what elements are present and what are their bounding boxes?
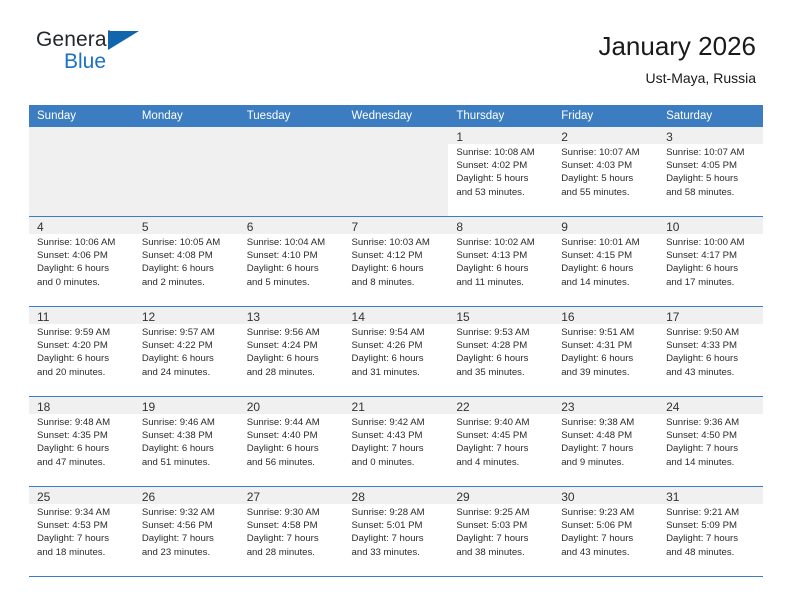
day-info-line: Sunset: 4:43 PM: [352, 429, 443, 442]
page-header: General Blue January 2026 Ust-Maya, Russ…: [0, 28, 792, 100]
day-info-line: Sunset: 4:17 PM: [666, 249, 757, 262]
day-sun-info: Sunrise: 9:25 AMSunset: 5:03 PMDaylight:…: [456, 506, 547, 559]
weekday-header-sunday: Sunday: [29, 105, 134, 127]
day-info-line: Sunrise: 9:46 AM: [142, 416, 233, 429]
day-info-line: Sunrise: 9:48 AM: [37, 416, 128, 429]
day-info-line: Sunset: 4:56 PM: [142, 519, 233, 532]
day-info-line: Sunrise: 9:28 AM: [352, 506, 443, 519]
day-cell-inner: 29Sunrise: 9:25 AMSunset: 5:03 PMDayligh…: [448, 487, 553, 576]
day-info-line: and 11 minutes.: [456, 276, 547, 289]
day-info-line: Daylight: 6 hours: [37, 262, 128, 275]
day-info-line: Sunset: 4:22 PM: [142, 339, 233, 352]
day-cell-inner: 16Sunrise: 9:51 AMSunset: 4:31 PMDayligh…: [553, 307, 658, 396]
calendar-day-cell[interactable]: 6Sunrise: 10:04 AMSunset: 4:10 PMDayligh…: [239, 217, 344, 307]
day-sun-info: Sunrise: 9:46 AMSunset: 4:38 PMDaylight:…: [142, 416, 233, 469]
day-cell-inner: [239, 127, 344, 216]
day-sun-info: Sunrise: 9:56 AMSunset: 4:24 PMDaylight:…: [247, 326, 338, 379]
day-info-line: and 0 minutes.: [37, 276, 128, 289]
day-cell-inner: [29, 127, 134, 216]
calendar-day-cell[interactable]: 11Sunrise: 9:59 AMSunset: 4:20 PMDayligh…: [29, 307, 134, 397]
calendar-day-cell[interactable]: 14Sunrise: 9:54 AMSunset: 4:26 PMDayligh…: [344, 307, 449, 397]
day-info-line: Daylight: 6 hours: [247, 442, 338, 455]
day-sun-info: Sunrise: 9:44 AMSunset: 4:40 PMDaylight:…: [247, 416, 338, 469]
day-cell-inner: 17Sunrise: 9:50 AMSunset: 4:33 PMDayligh…: [658, 307, 763, 396]
day-cell-inner: 25Sunrise: 9:34 AMSunset: 4:53 PMDayligh…: [29, 487, 134, 576]
day-sun-info: Sunrise: 9:54 AMSunset: 4:26 PMDaylight:…: [352, 326, 443, 379]
day-info-line: and 0 minutes.: [352, 456, 443, 469]
day-info-line: Sunrise: 10:02 AM: [456, 236, 547, 249]
day-number: 30: [561, 490, 652, 505]
day-info-line: and 14 minutes.: [666, 456, 757, 469]
calendar-week-row: 25Sunrise: 9:34 AMSunset: 4:53 PMDayligh…: [29, 487, 763, 577]
day-cell-inner: 30Sunrise: 9:23 AMSunset: 5:06 PMDayligh…: [553, 487, 658, 576]
day-info-line: and 53 minutes.: [456, 186, 547, 199]
day-info-line: Sunset: 4:28 PM: [456, 339, 547, 352]
calendar-week-row: 4Sunrise: 10:06 AMSunset: 4:06 PMDayligh…: [29, 217, 763, 307]
day-info-line: and 35 minutes.: [456, 366, 547, 379]
day-info-line: Sunset: 4:15 PM: [561, 249, 652, 262]
day-info-line: Sunset: 4:48 PM: [561, 429, 652, 442]
calendar-day-cell[interactable]: 9Sunrise: 10:01 AMSunset: 4:15 PMDayligh…: [553, 217, 658, 307]
day-cell-inner: 6Sunrise: 10:04 AMSunset: 4:10 PMDayligh…: [239, 217, 344, 306]
weekday-header-thursday: Thursday: [448, 105, 553, 127]
day-info-line: Sunset: 4:02 PM: [456, 159, 547, 172]
day-number: 5: [142, 220, 233, 235]
day-info-line: Sunrise: 10:03 AM: [352, 236, 443, 249]
day-info-line: Daylight: 5 hours: [561, 172, 652, 185]
day-number: 25: [37, 490, 128, 505]
day-info-line: and 2 minutes.: [142, 276, 233, 289]
calendar-page: General Blue January 2026 Ust-Maya, Russ…: [0, 0, 792, 612]
calendar-day-cell[interactable]: 20Sunrise: 9:44 AMSunset: 4:40 PMDayligh…: [239, 397, 344, 487]
calendar-day-cell[interactable]: 10Sunrise: 10:00 AMSunset: 4:17 PMDaylig…: [658, 217, 763, 307]
calendar-day-cell[interactable]: 5Sunrise: 10:05 AMSunset: 4:08 PMDayligh…: [134, 217, 239, 307]
calendar-day-cell[interactable]: 25Sunrise: 9:34 AMSunset: 4:53 PMDayligh…: [29, 487, 134, 577]
calendar-empty-cell: [239, 127, 344, 217]
day-info-line: Sunrise: 9:50 AM: [666, 326, 757, 339]
day-cell-inner: 12Sunrise: 9:57 AMSunset: 4:22 PMDayligh…: [134, 307, 239, 396]
day-info-line: and 18 minutes.: [37, 546, 128, 559]
day-info-line: Sunset: 5:03 PM: [456, 519, 547, 532]
day-sun-info: Sunrise: 9:50 AMSunset: 4:33 PMDaylight:…: [666, 326, 757, 379]
day-sun-info: Sunrise: 9:42 AMSunset: 4:43 PMDaylight:…: [352, 416, 443, 469]
day-info-line: Daylight: 6 hours: [247, 352, 338, 365]
day-cell-inner: 7Sunrise: 10:03 AMSunset: 4:12 PMDayligh…: [344, 217, 449, 306]
day-info-line: Sunrise: 9:57 AM: [142, 326, 233, 339]
day-cell-inner: 3Sunrise: 10:07 AMSunset: 4:05 PMDayligh…: [658, 127, 763, 216]
day-number: 12: [142, 310, 233, 325]
day-sun-info: Sunrise: 10:00 AMSunset: 4:17 PMDaylight…: [666, 236, 757, 289]
calendar-day-cell[interactable]: 23Sunrise: 9:38 AMSunset: 4:48 PMDayligh…: [553, 397, 658, 487]
day-info-line: Sunset: 4:13 PM: [456, 249, 547, 262]
day-number: 1: [456, 130, 547, 145]
day-info-line: Sunset: 4:08 PM: [142, 249, 233, 262]
day-info-line: Daylight: 7 hours: [352, 442, 443, 455]
day-info-line: Sunset: 5:06 PM: [561, 519, 652, 532]
day-info-line: Sunrise: 9:42 AM: [352, 416, 443, 429]
calendar-day-cell[interactable]: 18Sunrise: 9:48 AMSunset: 4:35 PMDayligh…: [29, 397, 134, 487]
day-sun-info: Sunrise: 9:57 AMSunset: 4:22 PMDaylight:…: [142, 326, 233, 379]
weekday-header-friday: Friday: [553, 105, 658, 127]
day-sun-info: Sunrise: 9:23 AMSunset: 5:06 PMDaylight:…: [561, 506, 652, 559]
day-number: 3: [666, 130, 757, 145]
day-info-line: Sunset: 4:50 PM: [666, 429, 757, 442]
day-info-line: and 28 minutes.: [247, 366, 338, 379]
day-info-line: Sunrise: 9:38 AM: [561, 416, 652, 429]
day-info-line: Daylight: 6 hours: [247, 262, 338, 275]
day-sun-info: Sunrise: 9:28 AMSunset: 5:01 PMDaylight:…: [352, 506, 443, 559]
day-info-line: and 4 minutes.: [456, 456, 547, 469]
day-info-line: Sunrise: 10:06 AM: [37, 236, 128, 249]
day-info-line: and 47 minutes.: [37, 456, 128, 469]
day-info-line: Sunset: 4:58 PM: [247, 519, 338, 532]
day-sun-info: Sunrise: 9:34 AMSunset: 4:53 PMDaylight:…: [37, 506, 128, 559]
day-number: 16: [561, 310, 652, 325]
day-info-line: Sunrise: 10:01 AM: [561, 236, 652, 249]
day-cell-inner: [134, 127, 239, 216]
day-number: 21: [352, 400, 443, 415]
weekday-header-tuesday: Tuesday: [239, 105, 344, 127]
day-cell-inner: 20Sunrise: 9:44 AMSunset: 4:40 PMDayligh…: [239, 397, 344, 486]
day-cell-inner: [344, 127, 449, 216]
day-cell-inner: 23Sunrise: 9:38 AMSunset: 4:48 PMDayligh…: [553, 397, 658, 486]
day-info-line: Daylight: 6 hours: [561, 262, 652, 275]
day-info-line: Daylight: 7 hours: [456, 532, 547, 545]
day-info-line: Sunrise: 9:32 AM: [142, 506, 233, 519]
day-sun-info: Sunrise: 10:01 AMSunset: 4:15 PMDaylight…: [561, 236, 652, 289]
day-info-line: and 24 minutes.: [142, 366, 233, 379]
day-info-line: Sunrise: 9:23 AM: [561, 506, 652, 519]
day-sun-info: Sunrise: 9:21 AMSunset: 5:09 PMDaylight:…: [666, 506, 757, 559]
day-sun-info: Sunrise: 10:04 AMSunset: 4:10 PMDaylight…: [247, 236, 338, 289]
calendar-day-cell[interactable]: 17Sunrise: 9:50 AMSunset: 4:33 PMDayligh…: [658, 307, 763, 397]
day-number: 27: [247, 490, 338, 505]
day-info-line: Daylight: 6 hours: [142, 442, 233, 455]
day-cell-inner: 26Sunrise: 9:32 AMSunset: 4:56 PMDayligh…: [134, 487, 239, 576]
day-info-line: Sunset: 4:06 PM: [37, 249, 128, 262]
day-cell-inner: 13Sunrise: 9:56 AMSunset: 4:24 PMDayligh…: [239, 307, 344, 396]
calendar-week-row: 18Sunrise: 9:48 AMSunset: 4:35 PMDayligh…: [29, 397, 763, 487]
day-info-line: Daylight: 6 hours: [456, 352, 547, 365]
calendar-day-cell[interactable]: 15Sunrise: 9:53 AMSunset: 4:28 PMDayligh…: [448, 307, 553, 397]
day-number: 4: [37, 220, 128, 235]
day-info-line: Sunrise: 10:07 AM: [666, 146, 757, 159]
day-sun-info: Sunrise: 9:48 AMSunset: 4:35 PMDaylight:…: [37, 416, 128, 469]
day-info-line: Sunset: 5:09 PM: [666, 519, 757, 532]
day-number: 31: [666, 490, 757, 505]
day-sun-info: Sunrise: 9:30 AMSunset: 4:58 PMDaylight:…: [247, 506, 338, 559]
day-info-line: Daylight: 6 hours: [37, 442, 128, 455]
calendar-day-cell[interactable]: 19Sunrise: 9:46 AMSunset: 4:38 PMDayligh…: [134, 397, 239, 487]
day-info-line: and 17 minutes.: [666, 276, 757, 289]
day-info-line: Sunrise: 9:21 AM: [666, 506, 757, 519]
day-info-line: and 48 minutes.: [666, 546, 757, 559]
day-info-line: and 9 minutes.: [561, 456, 652, 469]
day-cell-inner: 8Sunrise: 10:02 AMSunset: 4:13 PMDayligh…: [448, 217, 553, 306]
day-info-line: Sunrise: 9:30 AM: [247, 506, 338, 519]
day-info-line: Daylight: 6 hours: [352, 352, 443, 365]
day-info-line: and 28 minutes.: [247, 546, 338, 559]
title-block: January 2026 Ust-Maya, Russia: [598, 28, 756, 88]
calendar-day-cell[interactable]: 24Sunrise: 9:36 AMSunset: 4:50 PMDayligh…: [658, 397, 763, 487]
day-info-line: and 55 minutes.: [561, 186, 652, 199]
day-info-line: Daylight: 7 hours: [247, 532, 338, 545]
calendar-body: 1Sunrise: 10:08 AMSunset: 4:02 PMDayligh…: [29, 127, 763, 577]
day-cell-inner: 27Sunrise: 9:30 AMSunset: 4:58 PMDayligh…: [239, 487, 344, 576]
day-cell-inner: 15Sunrise: 9:53 AMSunset: 4:28 PMDayligh…: [448, 307, 553, 396]
day-info-line: Sunrise: 10:00 AM: [666, 236, 757, 249]
day-number: 6: [247, 220, 338, 235]
day-number: 19: [142, 400, 233, 415]
day-cell-inner: 22Sunrise: 9:40 AMSunset: 4:45 PMDayligh…: [448, 397, 553, 486]
day-info-line: and 33 minutes.: [352, 546, 443, 559]
day-info-line: Daylight: 6 hours: [456, 262, 547, 275]
day-info-line: Sunset: 4:38 PM: [142, 429, 233, 442]
day-sun-info: Sunrise: 10:07 AMSunset: 4:03 PMDaylight…: [561, 146, 652, 199]
calendar-day-cell[interactable]: 31Sunrise: 9:21 AMSunset: 5:09 PMDayligh…: [658, 487, 763, 577]
day-cell-inner: 5Sunrise: 10:05 AMSunset: 4:08 PMDayligh…: [134, 217, 239, 306]
day-info-line: and 14 minutes.: [561, 276, 652, 289]
calendar-day-cell[interactable]: 22Sunrise: 9:40 AMSunset: 4:45 PMDayligh…: [448, 397, 553, 487]
calendar-day-cell[interactable]: 21Sunrise: 9:42 AMSunset: 4:43 PMDayligh…: [344, 397, 449, 487]
day-info-line: Sunset: 4:33 PM: [666, 339, 757, 352]
day-number: 24: [666, 400, 757, 415]
day-cell-inner: 2Sunrise: 10:07 AMSunset: 4:03 PMDayligh…: [553, 127, 658, 216]
calendar-day-cell[interactable]: 7Sunrise: 10:03 AMSunset: 4:12 PMDayligh…: [344, 217, 449, 307]
calendar-empty-cell: [344, 127, 449, 217]
day-info-line: Daylight: 7 hours: [561, 442, 652, 455]
day-info-line: and 20 minutes.: [37, 366, 128, 379]
day-info-line: Sunrise: 9:36 AM: [666, 416, 757, 429]
day-info-line: Sunset: 4:40 PM: [247, 429, 338, 442]
day-info-line: Sunset: 4:24 PM: [247, 339, 338, 352]
calendar-day-cell[interactable]: 12Sunrise: 9:57 AMSunset: 4:22 PMDayligh…: [134, 307, 239, 397]
calendar-day-cell[interactable]: 13Sunrise: 9:56 AMSunset: 4:24 PMDayligh…: [239, 307, 344, 397]
day-info-line: Daylight: 7 hours: [666, 532, 757, 545]
day-sun-info: Sunrise: 10:02 AMSunset: 4:13 PMDaylight…: [456, 236, 547, 289]
day-number: 8: [456, 220, 547, 235]
day-info-line: Daylight: 6 hours: [666, 352, 757, 365]
day-sun-info: Sunrise: 10:08 AMSunset: 4:02 PMDaylight…: [456, 146, 547, 199]
calendar-day-cell[interactable]: 30Sunrise: 9:23 AMSunset: 5:06 PMDayligh…: [553, 487, 658, 577]
day-info-line: Sunset: 4:05 PM: [666, 159, 757, 172]
day-cell-inner: 31Sunrise: 9:21 AMSunset: 5:09 PMDayligh…: [658, 487, 763, 576]
day-info-line: Sunset: 4:12 PM: [352, 249, 443, 262]
day-sun-info: Sunrise: 10:03 AMSunset: 4:12 PMDaylight…: [352, 236, 443, 289]
day-info-line: Daylight: 7 hours: [352, 532, 443, 545]
day-cell-inner: 24Sunrise: 9:36 AMSunset: 4:50 PMDayligh…: [658, 397, 763, 486]
day-info-line: Sunrise: 9:25 AM: [456, 506, 547, 519]
day-info-line: Sunset: 4:26 PM: [352, 339, 443, 352]
calendar-day-cell[interactable]: 29Sunrise: 9:25 AMSunset: 5:03 PMDayligh…: [448, 487, 553, 577]
day-info-line: Daylight: 7 hours: [142, 532, 233, 545]
calendar-day-cell[interactable]: 26Sunrise: 9:32 AMSunset: 4:56 PMDayligh…: [134, 487, 239, 577]
day-info-line: Sunset: 5:01 PM: [352, 519, 443, 532]
calendar-week-row: 11Sunrise: 9:59 AMSunset: 4:20 PMDayligh…: [29, 307, 763, 397]
day-sun-info: Sunrise: 10:07 AMSunset: 4:05 PMDaylight…: [666, 146, 757, 199]
day-info-line: Sunrise: 10:08 AM: [456, 146, 547, 159]
day-info-line: Daylight: 6 hours: [37, 352, 128, 365]
calendar-day-cell[interactable]: 2Sunrise: 10:07 AMSunset: 4:03 PMDayligh…: [553, 127, 658, 217]
brand-general-text: General: [36, 28, 111, 52]
day-number: 9: [561, 220, 652, 235]
day-info-line: Sunrise: 10:07 AM: [561, 146, 652, 159]
calendar-day-cell[interactable]: 8Sunrise: 10:02 AMSunset: 4:13 PMDayligh…: [448, 217, 553, 307]
brand-blue-text: Blue: [64, 50, 106, 74]
page-subtitle: Ust-Maya, Russia: [598, 68, 756, 88]
day-info-line: and 38 minutes.: [456, 546, 547, 559]
day-info-line: and 39 minutes.: [561, 366, 652, 379]
day-info-line: and 43 minutes.: [666, 366, 757, 379]
weekday-header-saturday: Saturday: [658, 105, 763, 127]
brand-logo[interactable]: General Blue: [36, 28, 156, 84]
day-number: 23: [561, 400, 652, 415]
day-info-line: Sunrise: 9:59 AM: [37, 326, 128, 339]
day-info-line: Sunrise: 9:40 AM: [456, 416, 547, 429]
day-info-line: Sunset: 4:20 PM: [37, 339, 128, 352]
calendar-day-cell[interactable]: 3Sunrise: 10:07 AMSunset: 4:05 PMDayligh…: [658, 127, 763, 217]
day-cell-inner: 1Sunrise: 10:08 AMSunset: 4:02 PMDayligh…: [448, 127, 553, 216]
day-sun-info: Sunrise: 9:36 AMSunset: 4:50 PMDaylight:…: [666, 416, 757, 469]
day-number: 28: [352, 490, 443, 505]
day-info-line: Sunset: 4:45 PM: [456, 429, 547, 442]
day-info-line: Daylight: 6 hours: [142, 352, 233, 365]
day-number: 10: [666, 220, 757, 235]
calendar-empty-cell: [134, 127, 239, 217]
day-info-line: Sunset: 4:35 PM: [37, 429, 128, 442]
day-info-line: Daylight: 6 hours: [561, 352, 652, 365]
calendar-day-cell[interactable]: 1Sunrise: 10:08 AMSunset: 4:02 PMDayligh…: [448, 127, 553, 217]
day-info-line: Sunrise: 9:34 AM: [37, 506, 128, 519]
calendar-day-cell[interactable]: 4Sunrise: 10:06 AMSunset: 4:06 PMDayligh…: [29, 217, 134, 307]
day-info-line: Daylight: 7 hours: [561, 532, 652, 545]
day-sun-info: Sunrise: 10:05 AMSunset: 4:08 PMDaylight…: [142, 236, 233, 289]
day-sun-info: Sunrise: 9:32 AMSunset: 4:56 PMDaylight:…: [142, 506, 233, 559]
day-info-line: Sunrise: 9:56 AM: [247, 326, 338, 339]
day-cell-inner: 10Sunrise: 10:00 AMSunset: 4:17 PMDaylig…: [658, 217, 763, 306]
day-info-line: Daylight: 7 hours: [666, 442, 757, 455]
day-info-line: and 8 minutes.: [352, 276, 443, 289]
day-info-line: Sunrise: 10:05 AM: [142, 236, 233, 249]
day-info-line: and 58 minutes.: [666, 186, 757, 199]
page-title: January 2026: [598, 30, 756, 62]
day-info-line: Daylight: 7 hours: [456, 442, 547, 455]
day-number: 22: [456, 400, 547, 415]
day-info-line: Daylight: 5 hours: [666, 172, 757, 185]
calendar-day-cell[interactable]: 27Sunrise: 9:30 AMSunset: 4:58 PMDayligh…: [239, 487, 344, 577]
day-number: 29: [456, 490, 547, 505]
day-info-line: Sunset: 4:10 PM: [247, 249, 338, 262]
day-info-line: and 51 minutes.: [142, 456, 233, 469]
day-sun-info: Sunrise: 9:53 AMSunset: 4:28 PMDaylight:…: [456, 326, 547, 379]
day-cell-inner: 28Sunrise: 9:28 AMSunset: 5:01 PMDayligh…: [344, 487, 449, 576]
day-number: 7: [352, 220, 443, 235]
triangle-flag-icon: [108, 31, 139, 50]
day-info-line: and 43 minutes.: [561, 546, 652, 559]
day-info-line: Daylight: 5 hours: [456, 172, 547, 185]
day-info-line: and 5 minutes.: [247, 276, 338, 289]
day-info-line: Daylight: 6 hours: [352, 262, 443, 275]
day-info-line: and 23 minutes.: [142, 546, 233, 559]
calendar-empty-cell: [29, 127, 134, 217]
day-info-line: and 31 minutes.: [352, 366, 443, 379]
day-info-line: Sunrise: 9:44 AM: [247, 416, 338, 429]
day-sun-info: Sunrise: 10:06 AMSunset: 4:06 PMDaylight…: [37, 236, 128, 289]
day-number: 15: [456, 310, 547, 325]
day-cell-inner: 9Sunrise: 10:01 AMSunset: 4:15 PMDayligh…: [553, 217, 658, 306]
day-sun-info: Sunrise: 9:51 AMSunset: 4:31 PMDaylight:…: [561, 326, 652, 379]
day-number: 17: [666, 310, 757, 325]
day-cell-inner: 14Sunrise: 9:54 AMSunset: 4:26 PMDayligh…: [344, 307, 449, 396]
day-number: 18: [37, 400, 128, 415]
day-number: 13: [247, 310, 338, 325]
day-cell-inner: 11Sunrise: 9:59 AMSunset: 4:20 PMDayligh…: [29, 307, 134, 396]
day-cell-inner: 18Sunrise: 9:48 AMSunset: 4:35 PMDayligh…: [29, 397, 134, 486]
day-number: 11: [37, 310, 128, 325]
calendar-week-row: 1Sunrise: 10:08 AMSunset: 4:02 PMDayligh…: [29, 127, 763, 217]
day-info-line: Sunrise: 9:51 AM: [561, 326, 652, 339]
calendar-day-cell[interactable]: 28Sunrise: 9:28 AMSunset: 5:01 PMDayligh…: [344, 487, 449, 577]
day-info-line: Daylight: 7 hours: [37, 532, 128, 545]
day-sun-info: Sunrise: 9:59 AMSunset: 4:20 PMDaylight:…: [37, 326, 128, 379]
day-info-line: Sunrise: 9:54 AM: [352, 326, 443, 339]
day-info-line: Sunset: 4:31 PM: [561, 339, 652, 352]
day-sun-info: Sunrise: 9:38 AMSunset: 4:48 PMDaylight:…: [561, 416, 652, 469]
weekday-header-row: SundayMondayTuesdayWednesdayThursdayFrid…: [29, 105, 763, 127]
day-cell-inner: 21Sunrise: 9:42 AMSunset: 4:43 PMDayligh…: [344, 397, 449, 486]
weekday-header-wednesday: Wednesday: [344, 105, 449, 127]
day-sun-info: Sunrise: 9:40 AMSunset: 4:45 PMDaylight:…: [456, 416, 547, 469]
day-info-line: Sunset: 4:03 PM: [561, 159, 652, 172]
day-number: 14: [352, 310, 443, 325]
day-number: 2: [561, 130, 652, 145]
day-number: 20: [247, 400, 338, 415]
day-cell-inner: 19Sunrise: 9:46 AMSunset: 4:38 PMDayligh…: [134, 397, 239, 486]
day-cell-inner: 4Sunrise: 10:06 AMSunset: 4:06 PMDayligh…: [29, 217, 134, 306]
calendar-day-cell[interactable]: 16Sunrise: 9:51 AMSunset: 4:31 PMDayligh…: [553, 307, 658, 397]
weekday-header-monday: Monday: [134, 105, 239, 127]
day-number: 26: [142, 490, 233, 505]
day-info-line: Sunrise: 9:53 AM: [456, 326, 547, 339]
day-info-line: Daylight: 6 hours: [142, 262, 233, 275]
calendar-table: SundayMondayTuesdayWednesdayThursdayFrid…: [29, 105, 763, 577]
day-info-line: and 56 minutes.: [247, 456, 338, 469]
day-info-line: Sunrise: 10:04 AM: [247, 236, 338, 249]
day-info-line: Daylight: 6 hours: [666, 262, 757, 275]
day-info-line: Sunset: 4:53 PM: [37, 519, 128, 532]
